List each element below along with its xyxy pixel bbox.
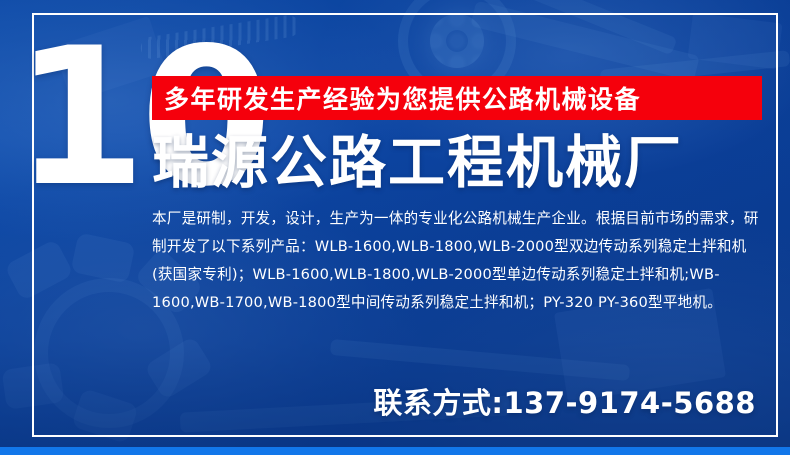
company-title: 瑞源公路工程机械厂 — [152, 134, 764, 192]
mixer-blade-shape — [4, 239, 74, 302]
promo-banner: 10 多年研发生产经验为您提供公路机械设备 瑞源公路工程机械厂 本厂是研制，开发… — [0, 0, 790, 455]
wheel-silhouette-icon — [430, 14, 484, 68]
mixer-blade-shape — [1, 362, 64, 410]
tagline-text: 多年研发生产经验为您提供公路机械设备 — [164, 80, 641, 116]
company-description: 本厂是研制，开发，设计，生产为一体的专业化公路机械生产企业。根据目前市场的需求，… — [152, 205, 760, 317]
frame-rail-shape — [330, 339, 630, 381]
banner-content: 多年研发生产经验为您提供公路机械设备 瑞源公路工程机械厂 本厂是研制，开发，设计… — [152, 76, 764, 317]
machine-arm-shape — [522, 0, 677, 55]
mixer-blade-shape — [70, 232, 135, 283]
mixer-blade-shape — [71, 388, 139, 444]
tagline-red-banner: 多年研发生产经验为您提供公路机械设备 — [152, 76, 762, 120]
machine-arm-shape — [470, 1, 699, 82]
contact-phone-text: 联系方式:137-9174-5688 — [373, 380, 756, 422]
contact-row: 联系方式:137-9174-5688 — [152, 380, 764, 422]
metal-plate-shape — [688, 13, 783, 70]
bottom-accent-strip — [0, 447, 790, 455]
